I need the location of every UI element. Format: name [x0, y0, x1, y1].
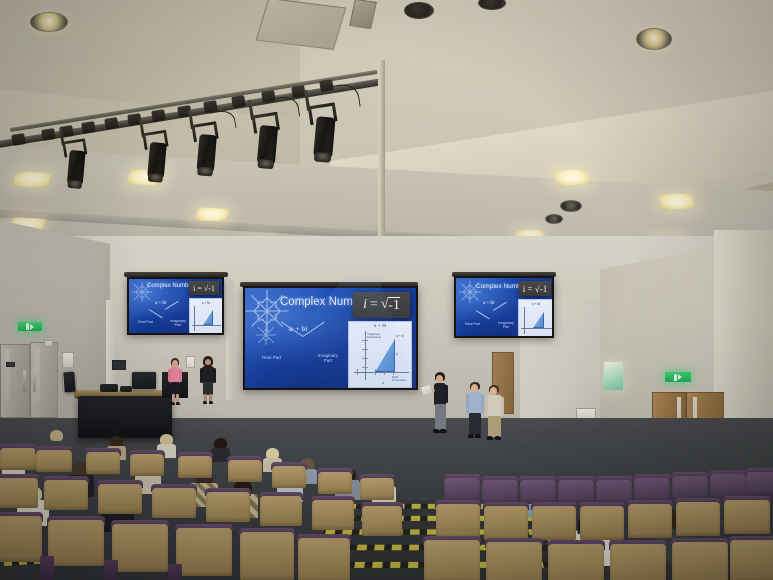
door-handle-icon[interactable] — [23, 370, 26, 392]
leaf-label-imaginary: Imaginary Part — [498, 321, 514, 329]
equation-equals: = — [370, 297, 378, 313]
emergency-bulkhead-light — [604, 362, 623, 390]
seat[interactable] — [596, 480, 632, 504]
seat[interactable] — [98, 484, 142, 514]
lecture-theatre-photo: Complex Numbers i = √-1 a + bi Real Part… — [0, 0, 773, 580]
wall-poster — [186, 356, 195, 368]
panel-light — [553, 169, 591, 186]
right-wall-screen: Complex Numbers i = √-1 a + bi Real Part… — [454, 276, 554, 338]
graph-title: a + bi — [349, 324, 411, 329]
graph-triangle — [375, 339, 395, 372]
graph-y-axis-label: Imaginary Dimension — [367, 333, 383, 340]
seat[interactable] — [520, 480, 556, 504]
seat[interactable] — [86, 452, 120, 474]
av-wall-panel — [112, 360, 126, 370]
running-man-icon — [674, 374, 677, 381]
lectern-equipment — [100, 384, 118, 392]
exit-arrow-icon — [30, 324, 34, 330]
snowflake-decoration-small-icon — [253, 322, 279, 348]
projector-mount-pole — [378, 60, 385, 255]
graph-leg-label: b — [396, 353, 398, 357]
seat[interactable] — [746, 472, 773, 496]
downlight-icon — [636, 28, 672, 50]
seat[interactable] — [0, 448, 36, 470]
door-sign-plate — [6, 362, 15, 367]
seat[interactable] — [312, 500, 354, 530]
truss-clamp — [11, 133, 26, 146]
seat[interactable] — [362, 506, 402, 536]
seat[interactable] — [710, 474, 746, 498]
seat[interactable] — [484, 506, 528, 540]
seat[interactable] — [176, 528, 232, 576]
leaf-label-real: Real Part — [262, 355, 281, 360]
downlight-icon — [30, 12, 68, 32]
panel-light — [658, 193, 696, 210]
tree-branch-right — [165, 301, 179, 310]
leaf-label-imaginary: Imaginary Part — [317, 353, 339, 364]
lectern-monitor-right — [132, 372, 156, 389]
seat[interactable] — [482, 480, 518, 504]
tree-branch-left — [149, 309, 163, 318]
seat[interactable] — [178, 456, 212, 478]
exit-sign-left — [18, 322, 42, 331]
equation-text: i = √-1 — [523, 284, 548, 294]
seat[interactable] — [228, 460, 262, 482]
seat[interactable] — [486, 542, 542, 580]
graph-title: a + bi — [190, 301, 222, 305]
exit-sign-right — [665, 372, 691, 382]
door-handle-icon[interactable] — [33, 370, 36, 392]
radical-icon: √ — [381, 297, 388, 313]
wall-pillar-center — [226, 280, 234, 400]
seat[interactable] — [36, 450, 72, 472]
downlight-icon — [545, 214, 563, 224]
presenter-black-shirt — [200, 356, 216, 406]
presenter-blue-shirt — [466, 382, 484, 444]
seat[interactable] — [558, 480, 594, 504]
left-wall-screen: Complex Numbers i = √-1 a + bi Real Part… — [127, 277, 224, 335]
complex-plane-graph: a + bi — [189, 298, 222, 333]
presenter-cream-shirt — [485, 385, 504, 445]
seat[interactable] — [724, 500, 770, 534]
truss-clamp — [104, 117, 119, 130]
leaf-label-real: Real Part — [465, 322, 480, 326]
tree-branch-left — [476, 310, 490, 319]
graph-x-axis — [354, 372, 409, 373]
leaf-label-real: Real Part — [138, 320, 153, 324]
seat[interactable] — [672, 476, 708, 500]
seat[interactable] — [206, 492, 250, 522]
seat[interactable] — [360, 478, 394, 500]
seat[interactable] — [298, 538, 350, 580]
complex-plane-graph: a + bi — [518, 299, 552, 336]
seat-armrest — [104, 560, 118, 580]
truss-clamp — [41, 128, 56, 141]
tree-branch-right — [493, 302, 507, 311]
lectern-monitor-left — [63, 372, 75, 393]
seat[interactable] — [44, 480, 88, 510]
equation-text: i = √-1 — [193, 284, 215, 293]
seat[interactable] — [0, 478, 38, 508]
panel-light — [11, 171, 52, 188]
truss-clamp — [151, 109, 166, 122]
presenter-with-pointer — [431, 372, 449, 442]
seat[interactable] — [548, 544, 604, 580]
seat[interactable] — [240, 532, 294, 580]
seat[interactable] — [318, 472, 352, 494]
seat[interactable] — [436, 504, 480, 538]
main-center-screen: Complex Numbers i = √ -1 a + bi Real Par… — [243, 286, 418, 390]
seat[interactable] — [730, 540, 773, 580]
equation-box: i = √-1 — [519, 281, 551, 296]
seat[interactable] — [610, 544, 666, 580]
truss-clamp — [231, 95, 246, 108]
seat[interactable] — [532, 506, 576, 540]
leaf-label-imaginary: Imaginary Part — [170, 319, 186, 327]
wall-notice — [62, 352, 74, 368]
equation-box: i = √ -1 — [353, 292, 410, 318]
seat[interactable] — [48, 520, 104, 566]
wall-notice — [44, 340, 53, 347]
lectern-equipment — [120, 386, 132, 392]
ceiling-speaker-icon — [404, 2, 434, 19]
exit-arrow-icon — [678, 374, 682, 380]
equation-symbol: i — [363, 297, 367, 313]
graph-point-label: a + bi — [396, 335, 404, 339]
seat[interactable] — [580, 506, 624, 540]
downlight-icon — [560, 200, 582, 212]
seat[interactable] — [444, 478, 480, 502]
seat[interactable] — [634, 478, 670, 502]
seat-armrest — [40, 556, 54, 580]
truss-clamp — [81, 121, 96, 134]
equation-radicand: -1 — [388, 297, 400, 314]
complex-plane-graph: a + bi Imaginary Dimension Real Dimensio… — [348, 321, 412, 388]
equation-box: i = √-1 — [189, 281, 219, 295]
expression-abi: a + bi — [155, 301, 166, 306]
seat[interactable] — [152, 488, 196, 518]
seat-armrest — [168, 564, 182, 580]
seat[interactable] — [130, 454, 164, 476]
seat[interactable] — [424, 540, 480, 580]
seat[interactable] — [260, 496, 302, 526]
graph-x-axis-label: Real Dimension — [392, 376, 410, 383]
panel-light — [194, 207, 230, 222]
seat[interactable] — [0, 516, 42, 562]
seat[interactable] — [628, 504, 672, 538]
graph-base-label: a — [382, 382, 384, 386]
presenter-lectern[interactable]: SUNY — [78, 396, 172, 438]
seat[interactable] — [272, 466, 306, 488]
graph-title: a + bi — [519, 302, 552, 306]
seat[interactable] — [676, 502, 720, 536]
running-man-icon — [26, 323, 29, 330]
expression-abi: a + bi — [483, 301, 494, 306]
seat[interactable] — [112, 524, 168, 572]
presenter-pink-shirt — [168, 358, 182, 406]
seat[interactable] — [672, 542, 728, 580]
